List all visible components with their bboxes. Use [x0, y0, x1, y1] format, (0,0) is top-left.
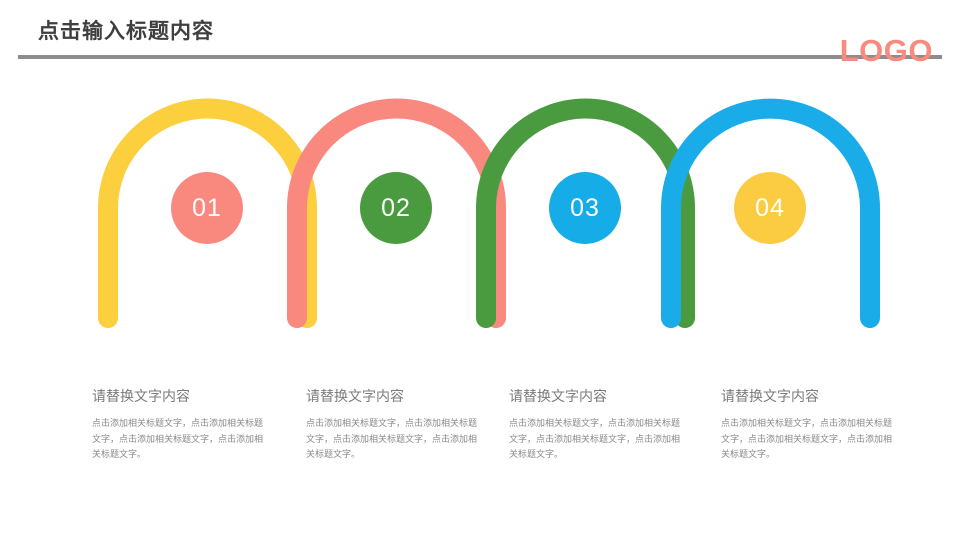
step-circle-04[interactable]: 04	[734, 172, 806, 244]
step-number-label: 02	[381, 196, 411, 221]
step-circle-02[interactable]: 02	[360, 172, 432, 244]
header-divider	[18, 55, 942, 59]
caption-row: 请替换文字内容 点击添加相关标题文字，点击添加相关标题文字，点击添加相关标题文字…	[0, 388, 960, 498]
caption-block: 请替换文字内容 点击添加相关标题文字，点击添加相关标题文字，点击添加相关标题文字…	[306, 388, 502, 463]
caption-block: 请替换文字内容 点击添加相关标题文字，点击添加相关标题文字，点击添加相关标题文字…	[92, 388, 288, 463]
caption-block: 请替换文字内容 点击添加相关标题文字，点击添加相关标题文字，点击添加相关标题文字…	[721, 388, 917, 463]
caption-body: 点击添加相关标题文字，点击添加相关标题文字，点击添加相关标题文字，点击添加相关标…	[306, 416, 484, 463]
step-number-label: 04	[755, 196, 785, 221]
caption-block: 请替换文字内容 点击添加相关标题文字，点击添加相关标题文字，点击添加相关标题文字…	[509, 388, 705, 463]
caption-body: 点击添加相关标题文字，点击添加相关标题文字，点击添加相关标题文字，点击添加相关标…	[721, 416, 899, 463]
step-number-label: 03	[570, 196, 600, 221]
slide-header: 点击输入标题内容 LOGO	[0, 0, 960, 80]
caption-title: 请替换文字内容	[721, 388, 917, 405]
step-circle-03[interactable]: 03	[549, 172, 621, 244]
step-circle-01[interactable]: 01	[171, 172, 243, 244]
logo: LOGO	[840, 35, 933, 66]
caption-body: 点击添加相关标题文字，点击添加相关标题文字，点击添加相关标题文字，点击添加相关标…	[509, 416, 687, 463]
slide-canvas: { "header": { "title": "点击输入标题内容", "logo…	[0, 0, 960, 540]
page-title: 点击输入标题内容	[38, 21, 214, 42]
step-number-label: 01	[192, 196, 222, 221]
caption-body: 点击添加相关标题文字，点击添加相关标题文字，点击添加相关标题文字，点击添加相关标…	[92, 416, 270, 463]
caption-title: 请替换文字内容	[92, 388, 288, 405]
caption-title: 请替换文字内容	[509, 388, 705, 405]
caption-title: 请替换文字内容	[306, 388, 502, 405]
